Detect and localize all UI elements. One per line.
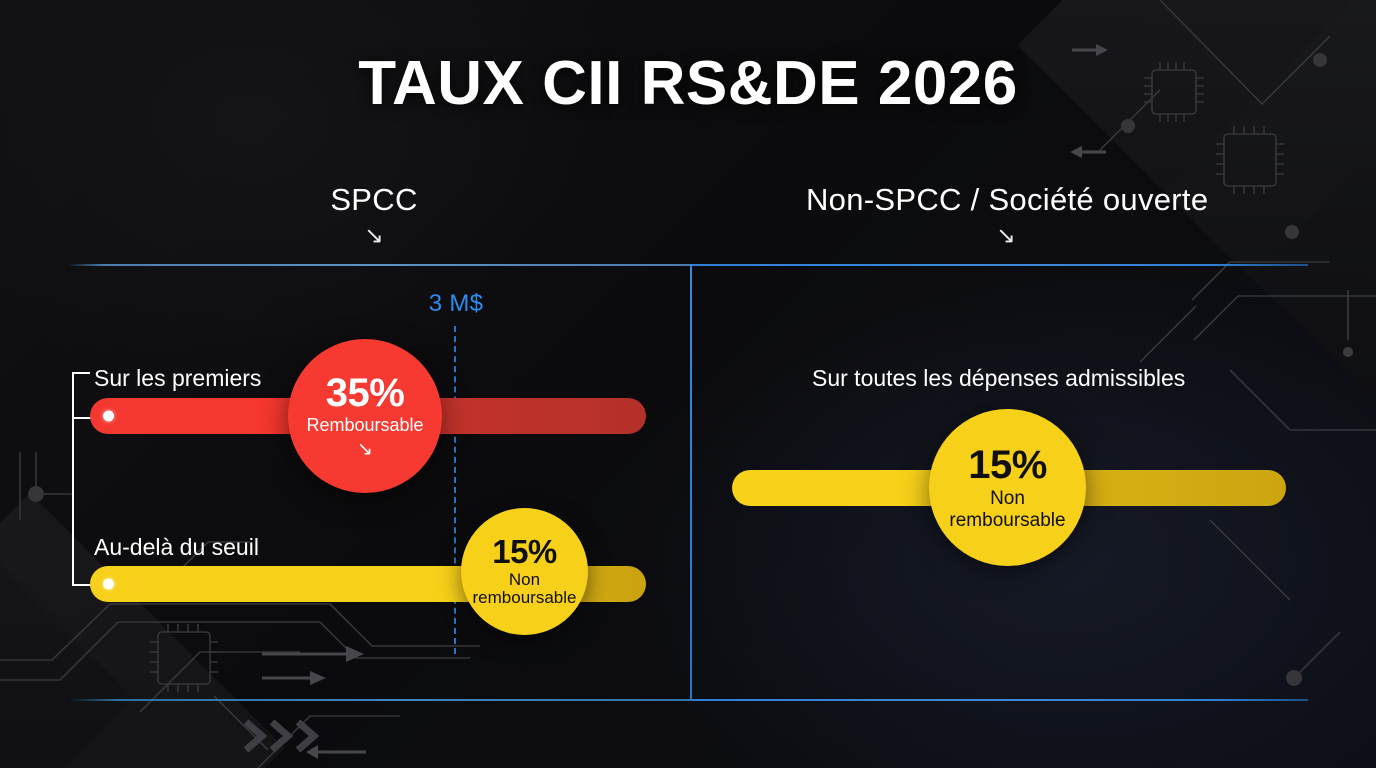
divider-bottom-right	[690, 699, 1308, 701]
divider-bottom-left	[66, 699, 690, 701]
bar-label-first: Sur les premiers	[94, 365, 261, 392]
column-header-spcc: SPCC ↘	[174, 182, 574, 247]
threshold-dashed-line	[454, 326, 456, 654]
bar-start-dot	[103, 579, 114, 590]
rate-badge-35: 35% Remboursable ↘	[288, 339, 442, 493]
threshold-label: 3 M$	[396, 290, 516, 318]
rate-percent: 15%	[492, 535, 557, 570]
arrow-down-right-icon: ↘	[806, 224, 1206, 247]
rate-badge-15-spcc: 15% Non remboursable	[461, 508, 588, 635]
rate-percent: 15%	[968, 444, 1047, 486]
column-header-label: Non-SPCC / Société ouverte	[806, 182, 1206, 218]
chip-icon	[1216, 126, 1284, 194]
arrow-down-right-icon: ↘	[357, 440, 373, 460]
bar-label-beyond: Au-delà du seuil	[94, 534, 259, 561]
rate-status-line1: Non	[509, 571, 540, 590]
bar-label-all-expenses: Sur toutes les dépenses admissibles	[812, 365, 1185, 392]
arrow-down-right-icon: ↘	[174, 224, 574, 247]
column-divider-vertical	[690, 264, 692, 701]
column-header-non-spcc: Non-SPCC / Société ouverte ↘	[806, 182, 1206, 247]
column-header-label: SPCC	[174, 182, 574, 218]
rate-status-line2: remboursable	[949, 510, 1065, 531]
rate-status: Remboursable	[306, 416, 423, 435]
page-title: TAUX CII RS&DE 2026	[0, 48, 1376, 119]
rate-status-line2: remboursable	[473, 589, 577, 608]
divider-top-right	[690, 264, 1308, 266]
bar-start-dot	[103, 411, 114, 422]
divider-top-left	[66, 264, 690, 266]
rate-status-line1: Non	[990, 488, 1025, 509]
rate-percent: 35%	[326, 372, 405, 414]
slide-canvas: TAUX CII RS&DE 2026 SPCC ↘ Non-SPCC / So…	[0, 0, 1376, 768]
chip-icon	[150, 624, 218, 692]
rate-badge-15-non-spcc: 15% Non remboursable	[929, 409, 1086, 566]
